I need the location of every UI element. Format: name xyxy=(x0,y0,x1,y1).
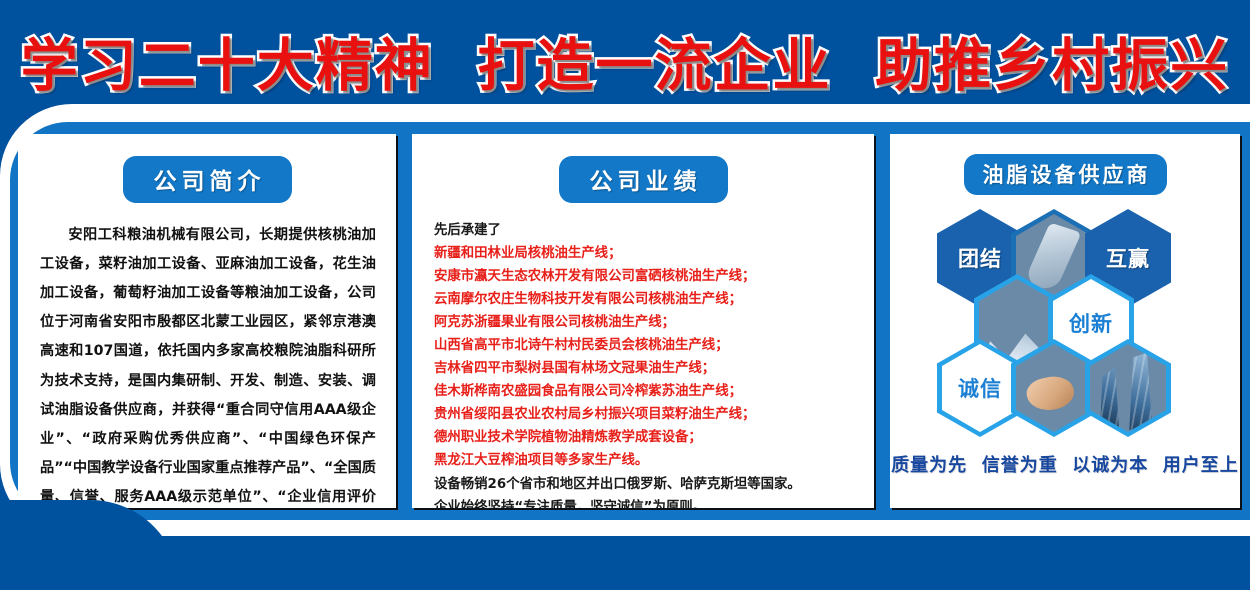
company-slogan: 质量为先 信誉为重 以诚为本 用户至上 xyxy=(890,451,1240,477)
panel-left-badge: 公司简介 xyxy=(123,156,292,203)
page-title: 学习二十大精神 打造一流企业 助推乡村振兴 xyxy=(21,20,1229,102)
performance-body: 先后承建了 新疆和田林业局核桃油生产线；安康市瀛天生态农林开发有限公司富硒核桃油… xyxy=(434,219,856,508)
performance-project-item: 新疆和田林业局核桃油生产线； xyxy=(434,242,856,265)
hexagon-cluster: 团结互赢创新诚信 xyxy=(915,207,1215,439)
hex-label: 团结 xyxy=(958,243,1002,273)
panel-supplier-values: 油脂设备供应商 团结互赢创新诚信 质量为先 信誉为重 以诚为本 用户至上 xyxy=(890,134,1240,508)
performance-project-item: 阿克苏浙疆果业有限公司核桃油生产线； xyxy=(434,311,856,334)
poster-title-bar: 学习二十大精神 打造一流企业 助推乡村振兴 xyxy=(0,20,1250,102)
panel-mid-badge: 公司业绩 xyxy=(559,156,728,203)
panel-company-intro: 公司简介 安阳工科粮油机械有限公司，长期提供核桃油加工设备，菜籽油加工设备、亚麻… xyxy=(18,134,396,508)
performance-project-list: 新疆和田林业局核桃油生产线；安康市瀛天生态农林开发有限公司富硒核桃油生产线；云南… xyxy=(434,242,856,472)
performance-tail-list: 设备畅销26个省市和地区并出口俄罗斯、哈萨克斯坦等国家。企业始终坚持“专注质量，… xyxy=(434,473,856,508)
hex-label: 互赢 xyxy=(1106,243,1150,273)
hex-label: 诚信 xyxy=(958,373,1002,403)
bottom-blue-band xyxy=(0,536,1250,590)
performance-project-item: 安康市瀛天生态农林开发有限公司富硒核桃油生产线； xyxy=(434,265,856,288)
performance-project-item: 吉林省四平市梨树县国有林场文冠果油生产线； xyxy=(434,357,856,380)
performance-project-item: 德州职业技术学院植物油精炼教学成套设备； xyxy=(434,426,856,449)
performance-project-item: 贵州省绥阳县农业农村局乡村振兴项目菜籽油生产线； xyxy=(434,403,856,426)
handshake-photo xyxy=(1016,344,1092,432)
performance-project-item: 黑龙江大豆榨油项目等多家生产线。 xyxy=(434,449,856,472)
performance-project-item: 云南摩尔农庄生物科技开发有限公司核桃油生产线； xyxy=(434,288,856,311)
hex-label: 创新 xyxy=(1069,308,1113,338)
performance-lead: 先后承建了 xyxy=(434,219,856,242)
poster-board: 学习二十大精神 打造一流企业 助推乡村振兴 公司简介 安阳工科粮油机械有限公司，… xyxy=(0,0,1250,590)
performance-tail-line: 设备畅销26个省市和地区并出口俄罗斯、哈萨克斯坦等国家。 xyxy=(434,473,856,496)
performance-project-item: 佳木斯桦南农盛园食品有限公司冷榨紫苏油生产线； xyxy=(434,380,856,403)
panel-company-performance: 公司业绩 先后承建了 新疆和田林业局核桃油生产线；安康市瀛天生态农林开发有限公司… xyxy=(412,134,874,508)
panel-right-badge: 油脂设备供应商 xyxy=(964,154,1167,195)
company-intro-text: 安阳工科粮油机械有限公司，长期提供核桃油加工设备，菜籽油加工设备、亚麻油加工设备… xyxy=(40,221,376,508)
performance-tail-line: 企业始终坚持“专注质量，坚守诚信”为原则。 xyxy=(434,496,856,508)
performance-project-item: 山西省高平市北诗午村村民委员会核桃油生产线； xyxy=(434,334,856,357)
city-skyscraper-photo xyxy=(1090,344,1166,432)
